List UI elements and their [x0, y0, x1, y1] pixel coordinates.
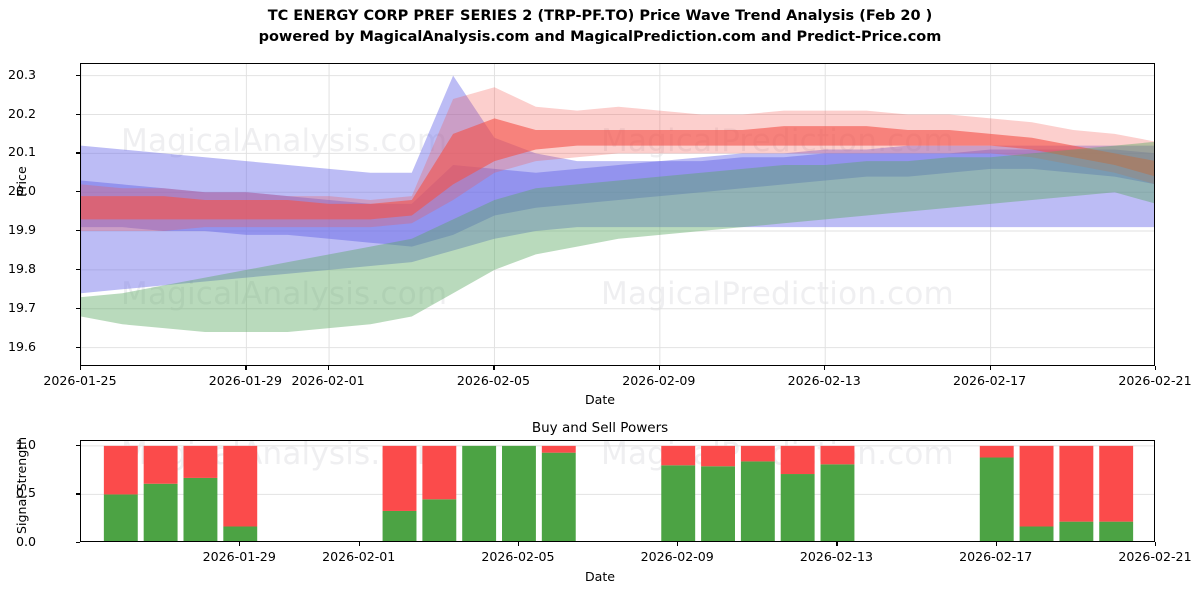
price-x-tick-mark — [328, 366, 329, 370]
price-x-tick-label: 2026-02-13 — [744, 373, 904, 388]
price-y-tick-label: 19.7 — [0, 300, 36, 315]
signal-bar-group — [183, 446, 217, 542]
price-y-tick-label: 19.6 — [0, 339, 36, 354]
signal-y-tick-mark — [76, 493, 80, 494]
price-x-tick-label: 2026-02-17 — [910, 373, 1070, 388]
sell-power-bar — [422, 446, 456, 499]
signal-x-tick-mark — [996, 542, 997, 546]
price-y-tick-mark — [76, 269, 80, 270]
signal-bar-group — [462, 446, 496, 542]
price-x-tick-label: 2026-02-21 — [1075, 373, 1200, 388]
buy-power-bar — [422, 499, 456, 542]
buy-power-bar — [701, 466, 735, 542]
sell-power-bar — [144, 446, 178, 484]
sell-power-bar — [383, 446, 417, 511]
buy-power-bar — [183, 478, 217, 542]
signal-y-axis-label: Signal Strength — [14, 437, 29, 534]
signal-x-tick-label: 2026-02-17 — [916, 549, 1076, 564]
signal-bar-group — [1059, 446, 1093, 542]
price-y-tick-mark — [76, 191, 80, 192]
price-x-axis-label: Date — [0, 392, 1200, 407]
buy-power-bar — [980, 458, 1014, 542]
price-y-tick-label: 20.1 — [0, 144, 36, 159]
chart-title-line2: powered by MagicalAnalysis.com and Magic… — [0, 27, 1200, 48]
signal-x-tick-mark — [518, 542, 519, 546]
buy-power-bar — [821, 464, 855, 542]
buy-power-bar — [661, 465, 695, 542]
price-x-tick-mark — [990, 366, 991, 370]
buy-power-bar — [1059, 522, 1093, 542]
buy-power-bar — [1020, 526, 1054, 542]
signal-x-tick-mark — [359, 542, 360, 546]
signal-y-tick-label: 0.0 — [0, 534, 36, 549]
price-y-tick-mark — [76, 114, 80, 115]
price-x-tick-mark — [1155, 366, 1156, 370]
sell-power-bar — [542, 446, 576, 453]
price-y-tick-mark — [76, 152, 80, 153]
signal-bar-group — [422, 446, 456, 542]
signal-bar-group — [502, 446, 536, 542]
signal-bar-group — [1020, 446, 1054, 542]
signal-x-tick-mark — [677, 542, 678, 546]
sell-power-bar — [980, 446, 1014, 458]
buy-power-bar — [502, 446, 536, 542]
buy-power-bar — [223, 526, 257, 542]
signal-x-tick-label: 2026-02-01 — [279, 549, 439, 564]
signal-bar-group — [821, 446, 855, 542]
signal-x-tick-mark — [836, 542, 837, 546]
price-x-tick-label: 2026-02-09 — [579, 373, 739, 388]
sell-power-bar — [1059, 446, 1093, 522]
signal-bar-group — [383, 446, 417, 542]
buy-power-bar — [462, 446, 496, 542]
signal-chart-panel: MagicalAnalysis.comMagicalPrediction.com — [80, 440, 1155, 542]
signal-bar-group — [144, 446, 178, 542]
signal-x-tick-label: 2026-02-05 — [438, 549, 598, 564]
buy-power-bar — [1099, 522, 1133, 542]
signal-bar-group — [980, 446, 1014, 542]
price-y-tick-label: 20.2 — [0, 106, 36, 121]
buy-power-bar — [383, 511, 417, 542]
buy-power-bar — [542, 453, 576, 542]
signal-bar-group — [104, 446, 138, 542]
signal-y-tick-mark — [76, 445, 80, 446]
signal-bar-group — [781, 446, 815, 542]
price-y-tick-mark — [76, 75, 80, 76]
signal-x-tick-label: 2026-02-21 — [1075, 549, 1200, 564]
chart-title-line1: TC ENERGY CORP PREF SERIES 2 (TRP-PF.TO)… — [0, 6, 1200, 27]
signal-bar-group — [542, 446, 576, 542]
price-y-tick-label: 19.8 — [0, 261, 36, 276]
chart-title-block: TC ENERGY CORP PREF SERIES 2 (TRP-PF.TO)… — [0, 6, 1200, 48]
buy-power-bar — [144, 484, 178, 542]
signal-bar-group — [661, 446, 695, 542]
signal-x-tick-label: 2026-02-09 — [597, 549, 757, 564]
price-x-tick-label: 2026-02-05 — [413, 373, 573, 388]
price-x-tick-label: 2026-02-01 — [248, 373, 408, 388]
price-x-tick-mark — [659, 366, 660, 370]
price-x-tick-mark — [80, 366, 81, 370]
price-y-tick-mark — [76, 347, 80, 348]
buy-power-bar — [104, 494, 138, 542]
price-y-tick-label: 19.9 — [0, 222, 36, 237]
price-y-axis-label: Price — [14, 166, 29, 197]
signal-x-tick-mark — [1155, 542, 1156, 546]
sell-power-bar — [661, 446, 695, 465]
buy-power-bar — [781, 474, 815, 542]
price-chart-panel: MagicalAnalysis.comMagicalPrediction.com… — [80, 63, 1155, 366]
sell-power-bar — [1099, 446, 1133, 522]
price-y-tick-mark — [76, 308, 80, 309]
sell-power-bar — [223, 446, 257, 527]
signal-x-tick-label: 2026-02-13 — [756, 549, 916, 564]
sell-power-bar — [104, 446, 138, 495]
sell-power-bar — [741, 446, 775, 462]
price-plot-frame: MagicalAnalysis.comMagicalPrediction.com… — [80, 63, 1155, 366]
signal-bars-svg — [81, 441, 1155, 542]
sell-power-bar — [781, 446, 815, 474]
price-x-tick-label: 2026-01-25 — [0, 373, 160, 388]
signal-chart-title: Buy and Sell Powers — [0, 420, 1200, 436]
price-x-tick-mark — [245, 366, 246, 370]
signal-bar-group — [701, 446, 735, 542]
signal-x-tick-mark — [239, 542, 240, 546]
signal-bar-group — [1099, 446, 1133, 542]
signal-x-axis-label: Date — [0, 569, 1200, 584]
sell-power-bar — [183, 446, 217, 478]
sell-power-bar — [821, 446, 855, 464]
sell-power-bar — [701, 446, 735, 466]
price-y-tick-label: 20.3 — [0, 67, 36, 82]
signal-bar-group — [223, 446, 257, 542]
price-wave-svg — [81, 64, 1155, 366]
sell-power-bar — [1020, 446, 1054, 527]
price-y-tick-mark — [76, 230, 80, 231]
buy-power-bar — [741, 461, 775, 542]
signal-plot-frame: MagicalAnalysis.comMagicalPrediction.com — [80, 440, 1155, 542]
price-x-tick-mark — [493, 366, 494, 370]
price-x-tick-mark — [824, 366, 825, 370]
signal-y-tick-mark — [76, 542, 80, 543]
signal-bar-group — [741, 446, 775, 542]
